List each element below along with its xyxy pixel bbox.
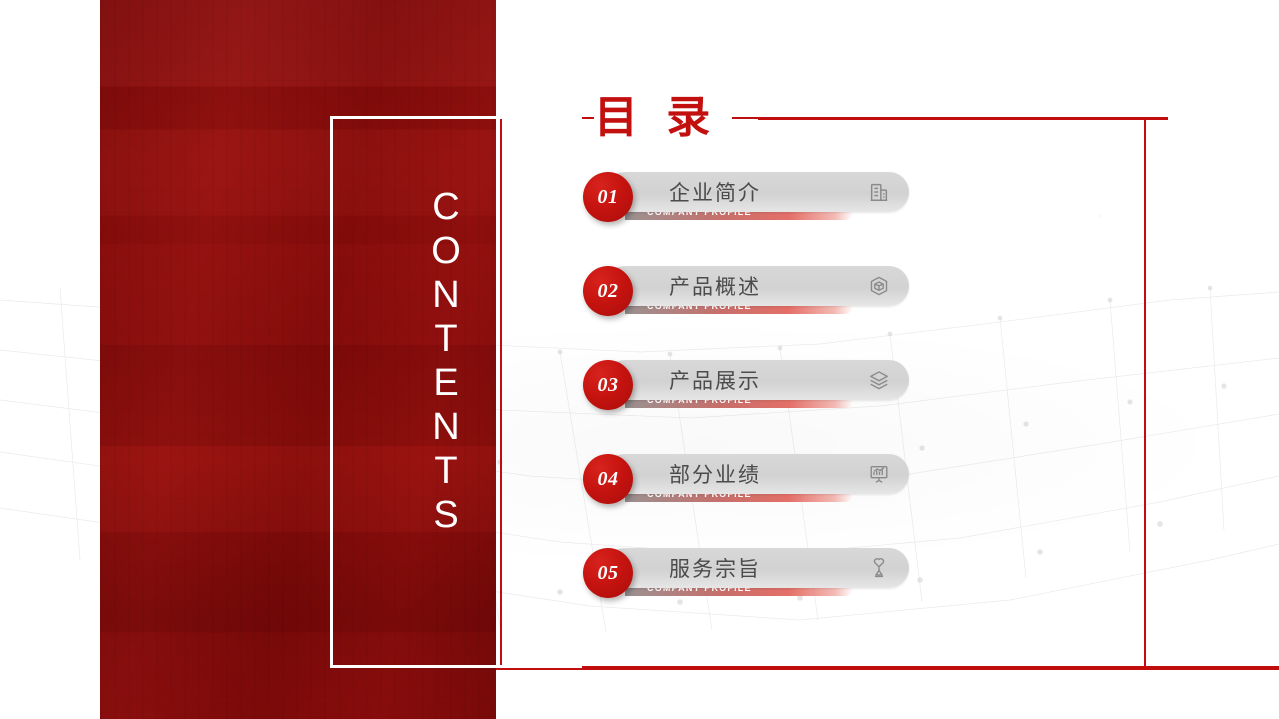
toc-number-badge: 01 bbox=[583, 172, 633, 222]
toc-title: 部分业绩 bbox=[669, 459, 761, 489]
cube-hexagon-icon bbox=[867, 274, 891, 298]
toc-pill[interactable]: 企业简介 bbox=[605, 172, 909, 212]
page-title: 目 录 bbox=[594, 94, 732, 142]
toc-number-badge: 03 bbox=[583, 360, 633, 410]
toc-pill[interactable]: 部分业绩 bbox=[605, 454, 909, 494]
toc-number: 05 bbox=[598, 562, 619, 585]
toc-item[interactable]: COMPANY PROFILE 企业简介 01 bbox=[583, 172, 923, 221]
toc-number-badge: 02 bbox=[583, 266, 633, 316]
toc-item[interactable]: COMPANY PROFILE 服务宗旨 05 bbox=[583, 548, 923, 597]
toc-title: 产品概述 bbox=[669, 271, 761, 301]
presentation-chart-icon bbox=[867, 462, 891, 486]
heart-trophy-icon bbox=[867, 556, 891, 580]
toc-number: 04 bbox=[598, 468, 619, 491]
toc-pill[interactable]: 服务宗旨 bbox=[605, 548, 909, 588]
bottom-accent-rule bbox=[496, 666, 1279, 670]
toc-item[interactable]: COMPANY PROFILE 产品展示 03 bbox=[583, 360, 923, 409]
toc-number: 03 bbox=[598, 374, 619, 397]
toc-title: 产品展示 bbox=[669, 365, 761, 395]
contents-vertical-label: CONTENTS bbox=[424, 186, 468, 406]
toc-title: 服务宗旨 bbox=[669, 553, 761, 583]
toc-pill[interactable]: 产品展示 bbox=[605, 360, 909, 400]
building-icon bbox=[867, 180, 891, 204]
toc-title: 企业简介 bbox=[669, 177, 761, 207]
toc-item[interactable]: COMPANY PROFILE 产品概述 02 bbox=[583, 266, 923, 315]
toc-number-badge: 05 bbox=[583, 548, 633, 598]
toc-list: COMPANY PROFILE 企业简介 01 COMPANY PROFILE … bbox=[583, 172, 923, 597]
toc-number: 01 bbox=[598, 186, 619, 209]
toc-number-badge: 04 bbox=[583, 454, 633, 504]
page-title-group: 目 录 bbox=[594, 94, 1168, 142]
toc-item[interactable]: COMPANY PROFILE 部分业绩 04 bbox=[583, 454, 923, 503]
toc-number: 02 bbox=[598, 280, 619, 303]
title-rule bbox=[758, 117, 1168, 120]
toc-pill[interactable]: 产品概述 bbox=[605, 266, 909, 306]
layers-icon bbox=[867, 368, 891, 392]
